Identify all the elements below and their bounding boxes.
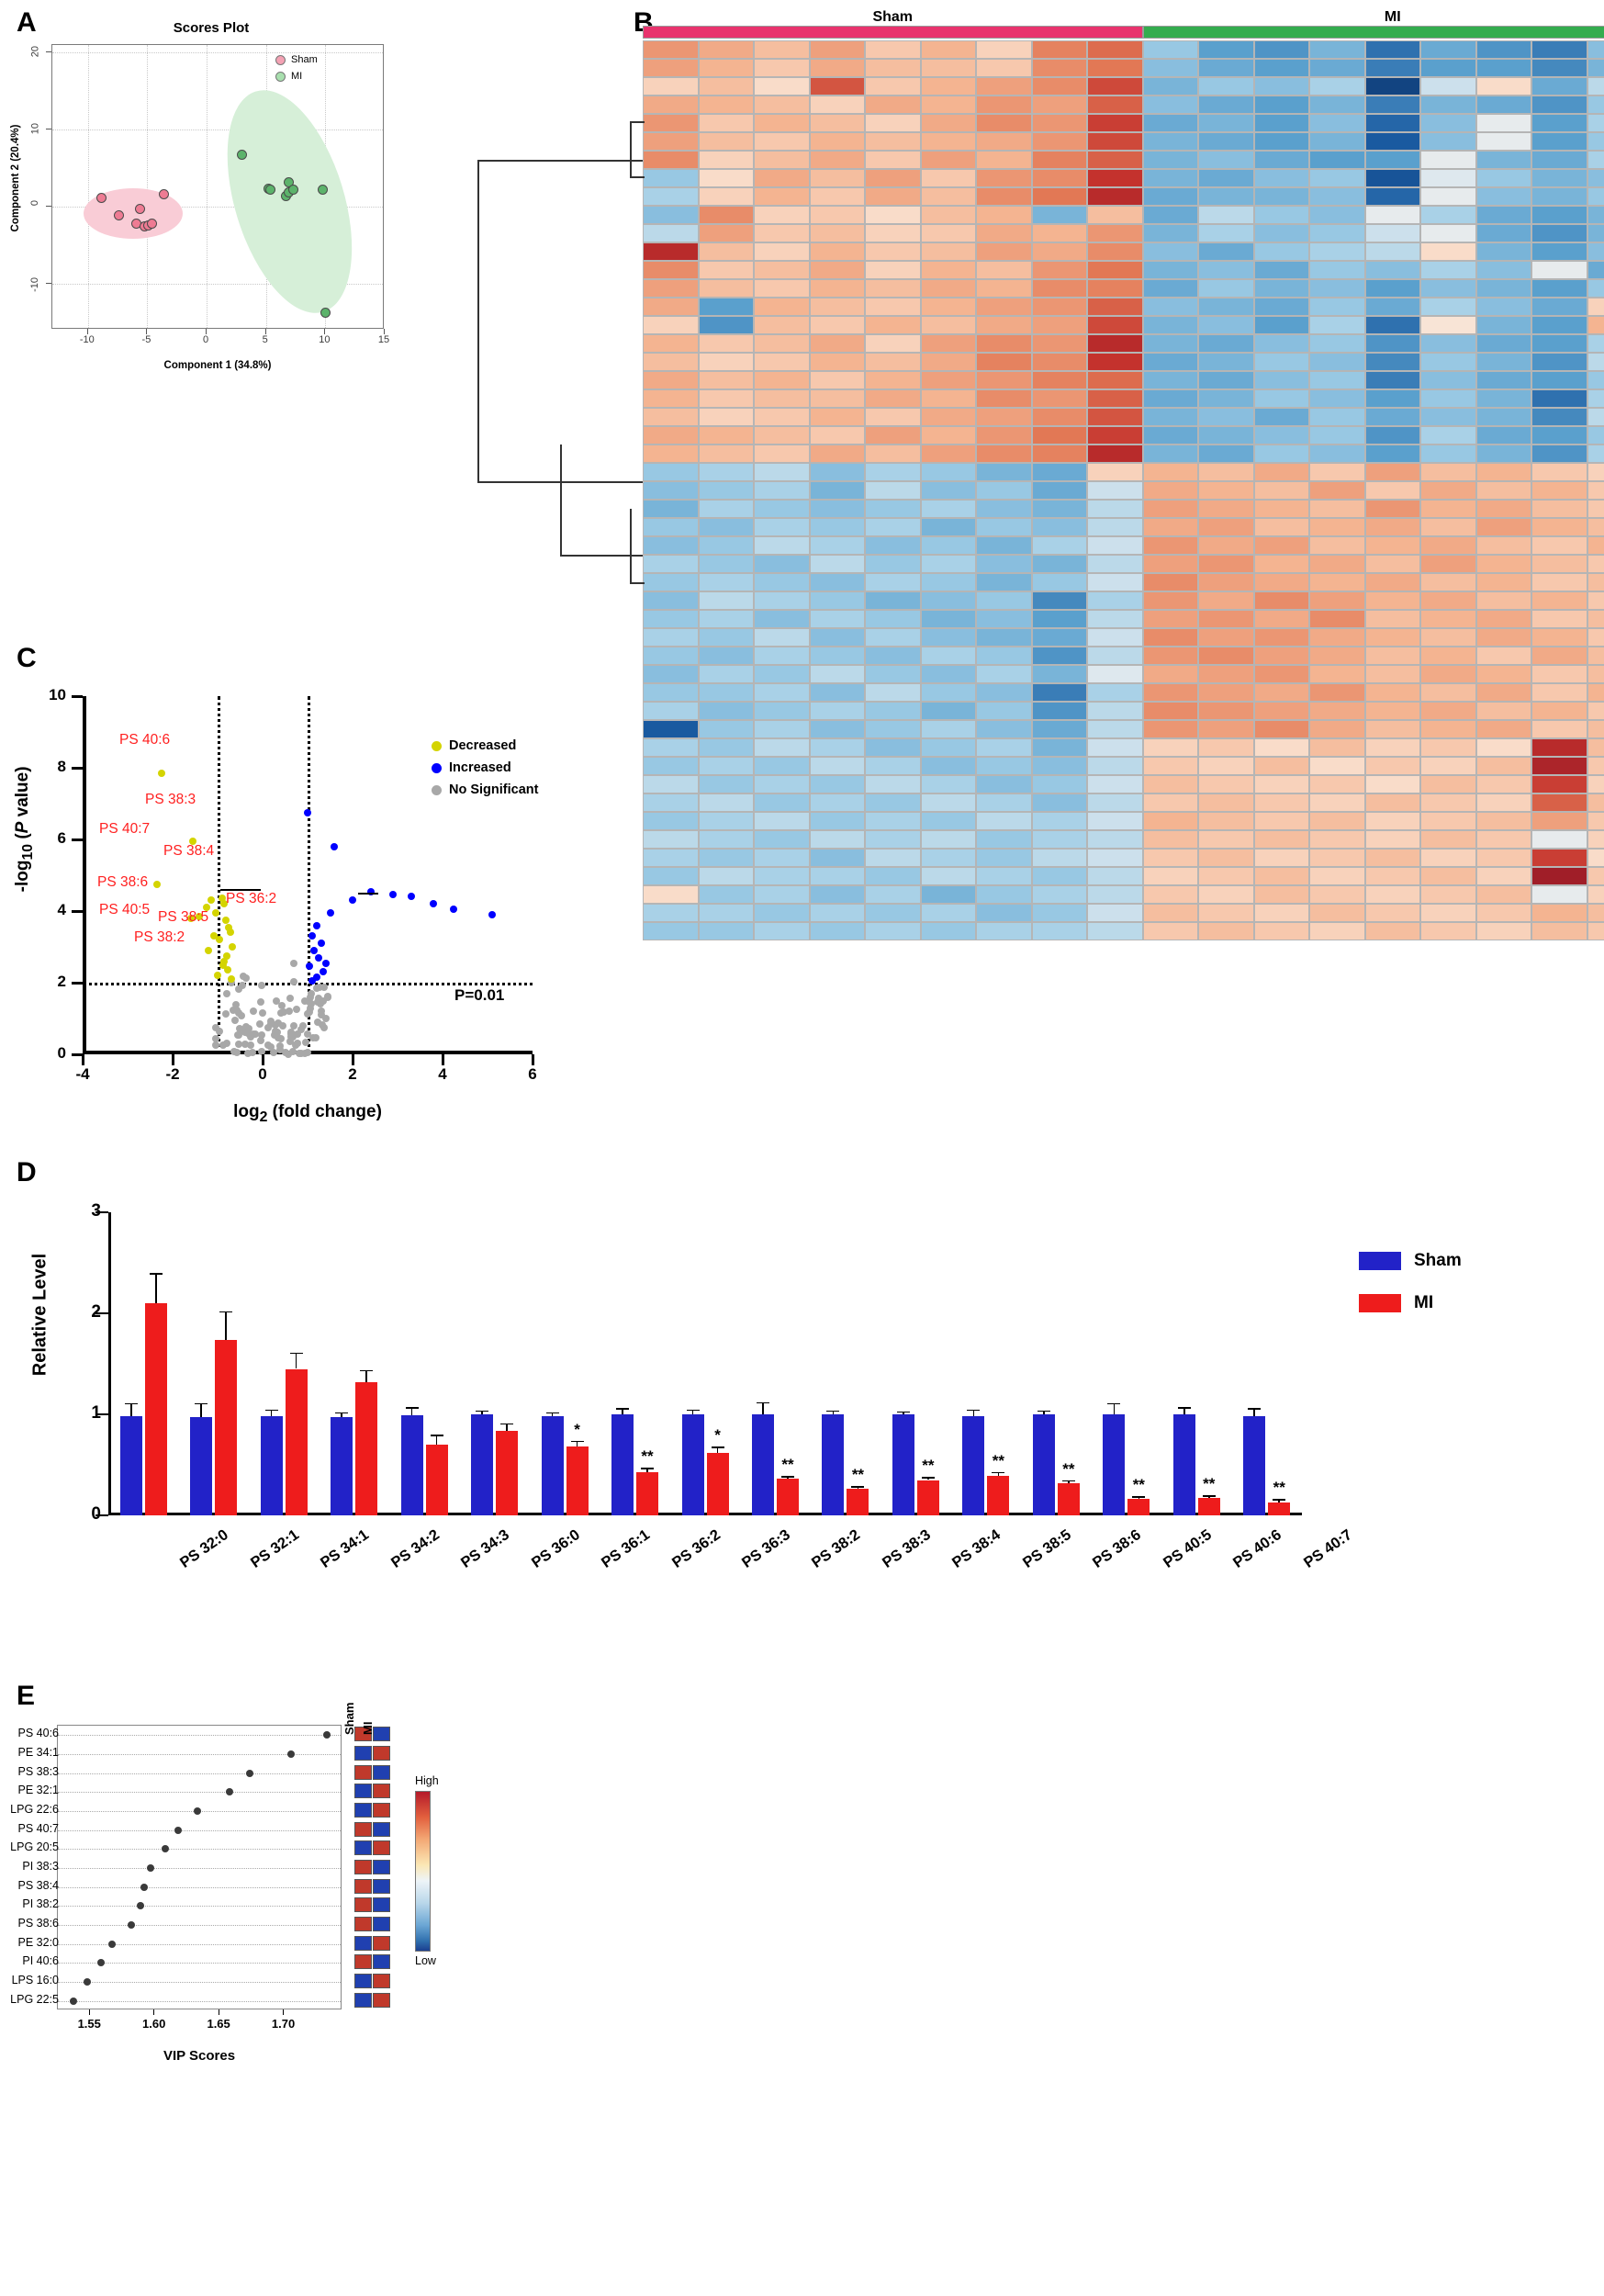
heatmap-cell [976, 481, 1032, 500]
heatmap-cell [1087, 922, 1143, 940]
x-tick-mark [262, 1054, 264, 1065]
heatmap-cell [1143, 59, 1199, 77]
volcano-point-increased [313, 922, 320, 929]
heatmap-cell [643, 206, 699, 224]
p-value-threshold-label: P=0.01 [454, 986, 504, 1005]
heatmap-cell [1587, 922, 1604, 940]
x-tick-mark [265, 329, 266, 334]
heatmap-cell [810, 481, 866, 500]
category-label: PS 34:2 [387, 1526, 443, 1572]
heatmap-cell [699, 830, 755, 849]
volcano-point-decreased [158, 770, 165, 777]
class-bar-sham [643, 26, 1143, 39]
heat-square-sham [354, 1917, 372, 1931]
heatmap-cell [1309, 738, 1365, 757]
heatmap-cell [1309, 261, 1365, 279]
heatmap-cell [1309, 114, 1365, 132]
heatmap-cell [1587, 40, 1604, 59]
heatmap-cell [1198, 536, 1254, 555]
heatmap-cell [1309, 463, 1365, 481]
heatmap-cell [1254, 573, 1310, 591]
heatmap-cell [921, 500, 977, 518]
heat-square-sham [354, 1803, 372, 1818]
heatmap-cell [1420, 647, 1476, 665]
heatmap-cell [1476, 187, 1532, 206]
heatmap-cell [1143, 610, 1199, 628]
heatmap-cell [921, 334, 977, 353]
heatmap-cell [643, 849, 699, 867]
heatmap-cell [976, 793, 1032, 812]
heatmap-cell [865, 77, 921, 96]
heatmap-cell [1032, 371, 1088, 389]
heatmap-cell [810, 812, 866, 830]
heatmap-cell [1087, 206, 1143, 224]
heatmap-cell [1531, 187, 1587, 206]
heatmap-cell [754, 187, 810, 206]
heatmap-cell [1198, 40, 1254, 59]
heatmap-cell [1143, 573, 1199, 591]
colorbar-label-low: Low [415, 1954, 436, 1967]
heatmap-cell [810, 279, 866, 298]
x-tick-mark [324, 329, 325, 334]
heatmap-cell [1254, 40, 1310, 59]
heatmap-cell [1143, 647, 1199, 665]
heatmap-cell [1365, 536, 1421, 555]
volcano-point-nonsignificant [292, 1041, 299, 1049]
heatmap-cell [810, 298, 866, 316]
heatmap-cell [1143, 922, 1199, 940]
heatmap-cell [699, 904, 755, 922]
y-tick-label: 10 [39, 686, 66, 704]
heatmap-cell [1365, 720, 1421, 738]
significance-marker: ** [1191, 1475, 1228, 1493]
heatmap-cell [921, 775, 977, 793]
heatmap-cell [1476, 591, 1532, 610]
heatmap-cell [1143, 151, 1199, 169]
vip-point [174, 1827, 182, 1834]
heatmap-cell [865, 867, 921, 885]
heatmap-cell [1587, 261, 1604, 279]
heatmap-cell [1531, 867, 1587, 885]
heatmap-cell [1420, 463, 1476, 481]
heatmap-cell [1032, 353, 1088, 371]
vip-gridline [58, 1982, 341, 1983]
heatmap-cell [754, 591, 810, 610]
heatmap-cell [1309, 426, 1365, 445]
x-tick-label: 0 [244, 1065, 281, 1084]
heatmap-cell [810, 922, 866, 940]
y-tick-label: 6 [39, 829, 66, 848]
heat-square-sham [354, 1860, 372, 1874]
heatmap-cell [754, 279, 810, 298]
heatmap-cell [976, 279, 1032, 298]
heatmap-cell [754, 793, 810, 812]
error-bar-sham [200, 1403, 202, 1417]
heatmap-cell [643, 793, 699, 812]
heatmap-cell [810, 720, 866, 738]
heatmap-cell [754, 353, 810, 371]
heatmap-cell [643, 59, 699, 77]
error-bar-cap-mi [1273, 1499, 1285, 1501]
legend-dot [432, 785, 442, 795]
heatmap-cell [1143, 371, 1199, 389]
heatmap-cell [1420, 316, 1476, 334]
heatmap-cell [1087, 371, 1143, 389]
error-bar-cap-mi [781, 1476, 794, 1478]
heatmap-cell [699, 738, 755, 757]
heatmap-cell [1587, 151, 1604, 169]
heatmap-cell [810, 867, 866, 885]
heatmap-cell [643, 169, 699, 187]
heatmap-cell [865, 849, 921, 867]
heatmap-cell [810, 353, 866, 371]
heatmap-cell [754, 812, 810, 830]
panel-a-ylabel-wrap: Component 2 (20.4%) [2, 44, 18, 329]
heatmap-cell [976, 867, 1032, 885]
heatmap-cell [1531, 683, 1587, 702]
heatmap-cell [1143, 445, 1199, 463]
heatmap-cell [921, 96, 977, 114]
heatmap-cell [976, 389, 1032, 408]
heatmap-cell [1365, 408, 1421, 426]
heatmap-cell [699, 775, 755, 793]
heatmap-cell [1587, 573, 1604, 591]
heatmap-cell [1032, 702, 1088, 720]
heatmap-cell [976, 647, 1032, 665]
heatmap-cell [976, 591, 1032, 610]
heatmap-cell [976, 316, 1032, 334]
heatmap-cell [1087, 849, 1143, 867]
heatmap-cell [1365, 463, 1421, 481]
error-bar-cap-sham [757, 1402, 769, 1404]
x-tick-mark [442, 1054, 444, 1065]
heatmap-cell [1087, 408, 1143, 426]
group-label-mi: MI [1143, 9, 1604, 26]
heatmap-cell [1254, 867, 1310, 885]
heat-square-sham [354, 1936, 372, 1951]
heatmap-cell [1531, 610, 1587, 628]
dendrogram-branch [630, 176, 645, 178]
volcano-point-nonsignificant [286, 995, 294, 1002]
x-tick-label: 6 [514, 1065, 551, 1084]
heatmap-cell [1531, 738, 1587, 757]
heatmap-cell [1198, 922, 1254, 940]
heatmap-cell [699, 591, 755, 610]
vip-row-label: LPG 22:6 [0, 1803, 59, 1816]
panel-d-legend: ShamMI [1359, 1240, 1462, 1324]
error-bar-cap-mi [1132, 1496, 1145, 1498]
heatmap-cell [1198, 59, 1254, 77]
y-tick-mark [72, 982, 83, 985]
heatmap-cell [1587, 114, 1604, 132]
heatmap-cell [643, 463, 699, 481]
legend-label: Sham [291, 54, 318, 65]
heatmap-cell [699, 720, 755, 738]
heatmap-cell [1420, 775, 1476, 793]
volcano-point-increased [430, 900, 437, 907]
heatmap-cell [1254, 481, 1310, 500]
heatmap-cell [865, 334, 921, 353]
heatmap-cell [865, 518, 921, 536]
heatmap-cell [810, 518, 866, 536]
heatmap-cell [1587, 610, 1604, 628]
heatmap-cell [1476, 885, 1532, 904]
heatmap-cell [1032, 720, 1088, 738]
heatmap-cell [810, 132, 866, 151]
heatmap-cell [1420, 500, 1476, 518]
heatmap-cell [1087, 867, 1143, 885]
volcano-point-increased [310, 947, 318, 954]
heat-square-sham [354, 1954, 372, 1969]
heatmap-cell [976, 536, 1032, 555]
heatmap-cell [921, 151, 977, 169]
heatmap-cell [754, 114, 810, 132]
y-tick-mark [95, 1514, 108, 1517]
heatmap-cell [1365, 261, 1421, 279]
heatmap-cell [643, 481, 699, 500]
heatmap-cell [976, 775, 1032, 793]
heatmap-cell [754, 96, 810, 114]
heatmap-cell [643, 445, 699, 463]
y-tick-label: 10 [29, 123, 40, 134]
heatmap-cell [1087, 573, 1143, 591]
heatmap-cell [976, 812, 1032, 830]
heatmap-cell [1420, 206, 1476, 224]
heatmap-cell [1587, 702, 1604, 720]
volcano-point-nonsignificant [249, 1049, 256, 1056]
heat-square-sham [354, 1765, 372, 1780]
heatmap-cell [699, 793, 755, 812]
heatmap-cell [865, 481, 921, 500]
heatmap-cell [754, 445, 810, 463]
heatmap-cell [699, 665, 755, 683]
heatmap-cell [976, 169, 1032, 187]
heatmap-cell [1254, 242, 1310, 261]
bar-mi [1127, 1499, 1150, 1515]
heatmap-cell [1587, 683, 1604, 702]
volcano-point-nonsignificant [256, 1020, 264, 1028]
heatmap-cell [1032, 206, 1088, 224]
heatmap-cell [1420, 77, 1476, 96]
x-tick-label: 2 [334, 1065, 371, 1084]
heatmap-cell [1365, 591, 1421, 610]
heatmap-cell [1420, 610, 1476, 628]
vip-row-label: PE 32:0 [0, 1936, 59, 1949]
volcano-point-increased [320, 968, 327, 975]
heatmap-cell [1476, 922, 1532, 940]
heatmap-cell [810, 500, 866, 518]
heatmap-cell [865, 555, 921, 573]
heat-square-mi [373, 1917, 390, 1931]
heatmap-cell [1087, 738, 1143, 757]
heatmap-cell [865, 573, 921, 591]
heatmap-cell [1476, 610, 1532, 628]
heatmap-cell [643, 132, 699, 151]
heatmap-cell [1587, 481, 1604, 500]
heatmap-cell [643, 371, 699, 389]
heatmap-cell [643, 812, 699, 830]
dendrogram-branch [630, 509, 632, 582]
heat-square-mi [373, 1822, 390, 1837]
heatmap-cell [754, 500, 810, 518]
heatmap-cell [699, 702, 755, 720]
heatmap-cell [1032, 757, 1088, 775]
heatmap-cell [810, 316, 866, 334]
heatmap-cell [1587, 867, 1604, 885]
heatmap-cell [699, 224, 755, 242]
x-tick-mark [87, 329, 88, 334]
heatmap-cell [1198, 242, 1254, 261]
heatmap-cell [1476, 775, 1532, 793]
volcano-point-nonsignificant [222, 1010, 230, 1018]
heatmap-cell [1476, 481, 1532, 500]
heatmap-cell [1087, 702, 1143, 720]
heatmap-cell [1254, 812, 1310, 830]
panel-c-legend: DecreasedIncreasedNo Significant [432, 735, 538, 801]
heatmap-cell [754, 481, 810, 500]
heatmap-cell [1254, 665, 1310, 683]
heatmap-cell [699, 371, 755, 389]
error-bar-cap-sham [1038, 1411, 1050, 1412]
heatmap-cell [921, 702, 977, 720]
heatmap-cell [1087, 610, 1143, 628]
error-bar-cap-sham [476, 1411, 488, 1412]
bar-mi [566, 1446, 589, 1515]
heatmap-cell [1587, 647, 1604, 665]
heatmap-cell [1087, 500, 1143, 518]
heatmap-cell [1143, 720, 1199, 738]
heatmap-cell [1531, 389, 1587, 408]
heatmap-cell [865, 775, 921, 793]
heatmap-cell [1476, 445, 1532, 463]
vip-gridline [58, 1754, 341, 1755]
heatmap-cell [1254, 830, 1310, 849]
heatmap-cell [1309, 77, 1365, 96]
volcano-point-decreased [208, 896, 215, 904]
volcano-point-decreased [205, 947, 212, 954]
heatmap-cell [1365, 353, 1421, 371]
heatmap-cell [1531, 665, 1587, 683]
heatmap-cell [643, 591, 699, 610]
heatmap-cell [1254, 922, 1310, 940]
volcano-point-nonsignificant [233, 1049, 241, 1056]
heatmap-cell [1032, 242, 1088, 261]
heatmap-cell [1198, 665, 1254, 683]
heatmap-cell [1476, 389, 1532, 408]
heatmap-cell [1587, 206, 1604, 224]
heatmap-cell [1420, 904, 1476, 922]
heatmap-cell [976, 114, 1032, 132]
heatmap-cell [1531, 132, 1587, 151]
heatmap-cell [921, 445, 977, 463]
heatmap-cell [976, 665, 1032, 683]
heatmap-cell [643, 114, 699, 132]
heatmap-cell [1087, 40, 1143, 59]
volcano-point-increased [318, 940, 325, 947]
heatmap-cell [1365, 426, 1421, 445]
heatmap-cell [1420, 187, 1476, 206]
heatmap-cell [1476, 151, 1532, 169]
heatmap-cell [1476, 316, 1532, 334]
heatmap-cell [1309, 389, 1365, 408]
panel-d-ylabel: Relative Level [30, 1177, 51, 1453]
heatmap-cell [1587, 96, 1604, 114]
panel-d-plot-area: ******************** [108, 1212, 1302, 1515]
heatmap-cell [865, 408, 921, 426]
x-tick-mark [219, 2009, 219, 2015]
bar-mi [847, 1489, 869, 1515]
heatmap-cell [1365, 371, 1421, 389]
heatmap-cell [1587, 77, 1604, 96]
heatmap-cell [1365, 885, 1421, 904]
vip-point [147, 1864, 154, 1872]
heatmap-cell [1531, 206, 1587, 224]
heatmap-cell [699, 610, 755, 628]
heatmap-cell [865, 683, 921, 702]
heatmap-cell [1420, 224, 1476, 242]
heatmap-cell [865, 793, 921, 812]
volcano-point-increased [450, 906, 457, 913]
heatmap-cell [976, 353, 1032, 371]
heatmap-cell [1476, 132, 1532, 151]
heatmap-cell [1476, 298, 1532, 316]
heatmap-cell [1476, 867, 1532, 885]
heatmap-cell [865, 279, 921, 298]
heatmap-cell [921, 849, 977, 867]
heatmap-cell [1587, 500, 1604, 518]
heatmap-cell [810, 702, 866, 720]
heatmap-cell [1032, 555, 1088, 573]
category-label: PS 40:6 [1230, 1526, 1285, 1572]
column-header-sham: Sham [342, 1703, 356, 1735]
significance-marker: ** [769, 1456, 806, 1474]
heatmap-cell [1587, 445, 1604, 463]
bar-mi [215, 1340, 237, 1515]
volcano-annotation: PS 38:6 [97, 874, 148, 891]
error-bar-cap-sham [406, 1407, 419, 1409]
panel-e-xlabel: VIP Scores [57, 2048, 342, 2064]
category-label: PS 38:2 [809, 1526, 864, 1572]
heatmap-cell [1587, 591, 1604, 610]
heatmap-cell [754, 463, 810, 481]
scatter-point-mi [288, 185, 298, 195]
heatmap-cell [1531, 77, 1587, 96]
heatmap-cell [1198, 610, 1254, 628]
heatmap-cell [1365, 169, 1421, 187]
heatmap-cell [1365, 206, 1421, 224]
heatmap-cell [921, 904, 977, 922]
error-bar-cap-mi [150, 1273, 163, 1275]
heatmap-cell [1365, 242, 1421, 261]
heatmap-cell [1143, 242, 1199, 261]
heatmap-cell [643, 353, 699, 371]
heatmap-cell [1309, 757, 1365, 775]
heatmap-cell [1309, 371, 1365, 389]
heatmap-cell [1420, 445, 1476, 463]
heatmap-cell [1198, 132, 1254, 151]
heatmap-cell [810, 757, 866, 775]
heatmap-cell [1087, 793, 1143, 812]
heatmap-cell [1143, 206, 1199, 224]
heatmap-cell [754, 885, 810, 904]
heat-square-mi [373, 1954, 390, 1969]
x-tick-mark [283, 2009, 284, 2015]
heatmap-cell [1420, 922, 1476, 940]
heatmap-cell [754, 426, 810, 445]
heatmap-cell [865, 628, 921, 647]
heatmap-cell [1143, 665, 1199, 683]
heatmap-cell [865, 132, 921, 151]
